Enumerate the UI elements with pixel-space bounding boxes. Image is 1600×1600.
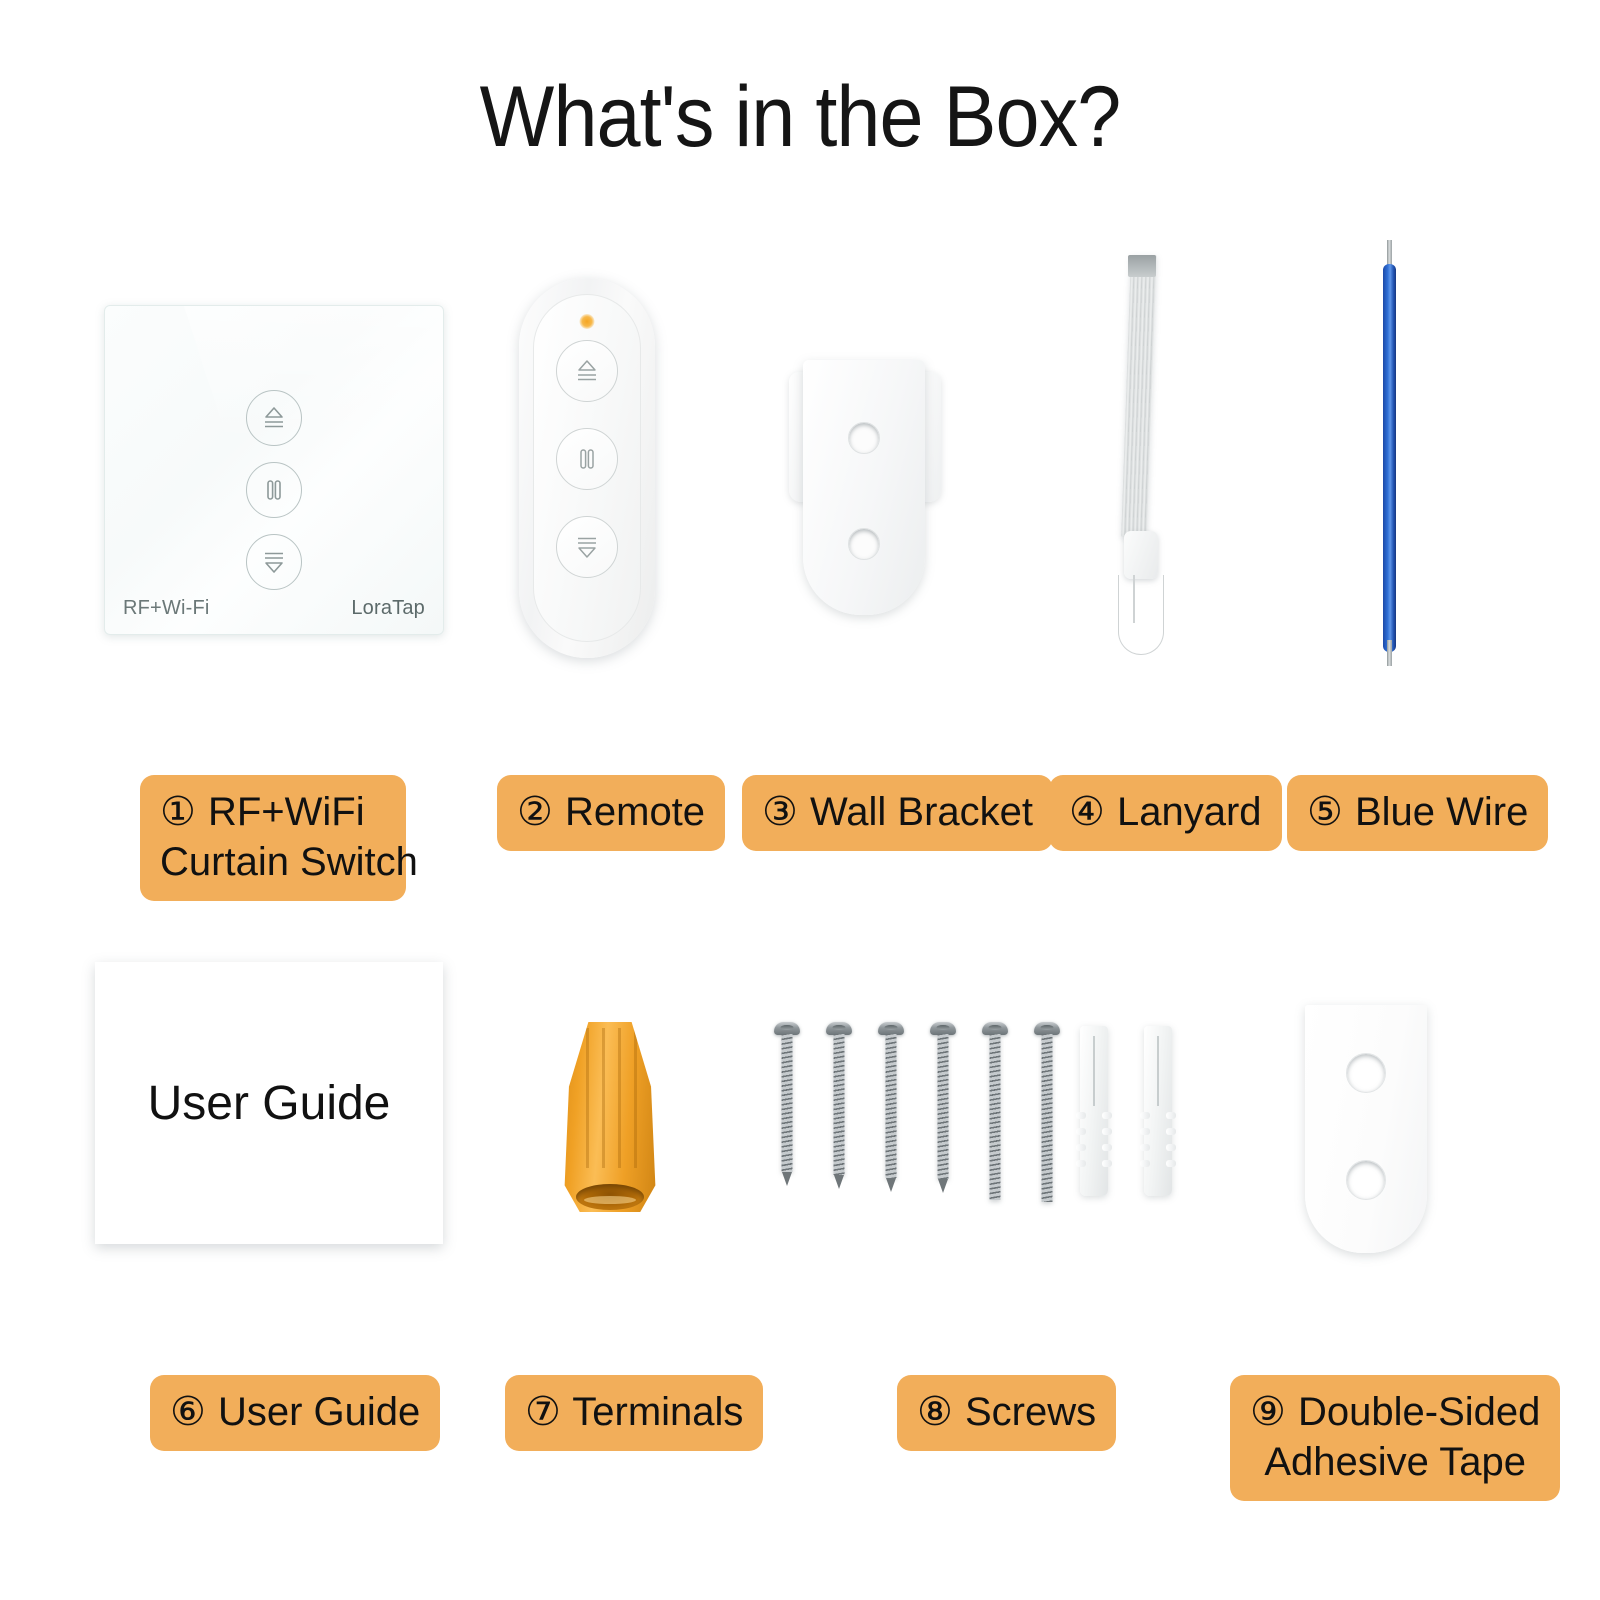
label-badge-screws: ⑧ Screws: [897, 1375, 1116, 1451]
badge-label: Lanyard: [1117, 790, 1262, 834]
badge-label: RF+WiFi: [208, 790, 365, 834]
lanyard-woven-strap: [1121, 255, 1157, 537]
anchor-notch: [1140, 1112, 1150, 1119]
badge-label: Double-Sided: [1298, 1390, 1540, 1434]
badge-label: Remote: [565, 790, 705, 834]
badge-number: ④: [1069, 790, 1106, 834]
bracket-screw-hole: [848, 528, 880, 560]
badge-label: Terminals: [572, 1390, 743, 1434]
wire-nut-rib: [634, 1028, 637, 1168]
switch-brand-label: LoraTap: [351, 597, 425, 620]
badge-number: ⑦: [525, 1390, 562, 1434]
screw-shaft: [886, 1034, 897, 1178]
screw-tip: [834, 1175, 844, 1189]
badge-number: ③: [762, 790, 799, 834]
remote-open-up-button[interactable]: [556, 340, 618, 402]
page-title: What's in the Box?: [64, 68, 1536, 167]
anchor-notch: [1166, 1144, 1176, 1151]
anchor-notch: [1140, 1144, 1150, 1151]
wire-nut-rib: [618, 1028, 621, 1168]
product-blue-wire: [1375, 240, 1405, 665]
screw-tip: [782, 1172, 792, 1186]
screw-shaft: [782, 1034, 793, 1172]
label-badge-remote: ② Remote: [497, 775, 725, 851]
product-lanyard: [1100, 255, 1190, 655]
label-badge-double-sided-adhesive-tape: ⑨ Double-Sided Adhesive Tape: [1230, 1375, 1560, 1501]
anchor-slit: [1157, 1036, 1159, 1106]
lanyard-clasp: [1124, 531, 1158, 579]
label-badge-blue-wire: ⑤ Blue Wire: [1287, 775, 1548, 851]
switch-protocol-label: RF+Wi-Fi: [123, 597, 210, 620]
whats-in-the-box-infographic: What's in the Box?: [0, 0, 1600, 1600]
screw-shaft: [1042, 1034, 1053, 1202]
label-badge-rf-wifi-curtain-switch: ① RF+WiFi Curtain Switch: [140, 775, 406, 901]
product-remote: [519, 278, 655, 658]
anchor-notch: [1102, 1112, 1112, 1119]
remote-button-column: [556, 340, 618, 578]
badge-label: Blue Wire: [1355, 790, 1528, 834]
anchor-notch: [1166, 1112, 1176, 1119]
anchor-notch: [1102, 1144, 1112, 1151]
lanyard-strap-end: [1128, 255, 1156, 277]
anchor-notch: [1166, 1128, 1176, 1135]
close-down-icon: [570, 530, 604, 564]
badge-label: User Guide: [218, 1390, 420, 1434]
badge-number: ⑧: [917, 1390, 954, 1434]
badge-number: ⑨: [1250, 1390, 1287, 1434]
screw-tip: [938, 1179, 948, 1193]
product-screws-and-anchors: [768, 1022, 1198, 1202]
label-badge-wall-bracket: ③ Wall Bracket: [742, 775, 1053, 851]
screw-shaft: [834, 1034, 845, 1175]
anchor-notch: [1076, 1128, 1086, 1135]
switch-button-column: [246, 390, 302, 590]
pause-icon: [257, 473, 291, 507]
product-terminal-wire-nut: [556, 1022, 664, 1212]
tape-hole: [1346, 1053, 1386, 1093]
wire-nut-opening-highlight: [584, 1196, 636, 1204]
bracket-screw-hole: [848, 422, 880, 454]
anchor-notch: [1166, 1160, 1176, 1167]
product-wall-bracket: [775, 360, 955, 615]
badge-number: ①: [160, 790, 197, 834]
badge-label: Screws: [965, 1390, 1096, 1434]
switch-open-up-button[interactable]: [246, 390, 302, 446]
anchor-slit: [1093, 1036, 1095, 1106]
label-badge-terminals: ⑦ Terminals: [505, 1375, 763, 1451]
label-badge-user-guide: ⑥ User Guide: [150, 1375, 440, 1451]
product-double-sided-adhesive-tape: [1305, 1005, 1427, 1253]
wall-anchor: [1080, 1026, 1108, 1196]
remote-close-down-button[interactable]: [556, 516, 618, 578]
product-rf-wifi-curtain-switch: RF+Wi-Fi LoraTap: [104, 305, 444, 635]
badge-label: Wall Bracket: [810, 790, 1033, 834]
lanyard-cord-stem: [1133, 575, 1135, 623]
wire-nut-rib: [586, 1028, 589, 1168]
badge-label-line2: Adhesive Tape: [1250, 1437, 1540, 1487]
remote-pause-button[interactable]: [556, 428, 618, 490]
pause-icon: [570, 442, 604, 476]
switch-close-down-button[interactable]: [246, 534, 302, 590]
wire-stripped-end: [1387, 240, 1392, 266]
remote-led-indicator-icon: [580, 314, 595, 329]
anchor-notch: [1140, 1160, 1150, 1167]
wire-blue-jacket: [1383, 264, 1396, 652]
screw-shaft: [990, 1034, 1001, 1200]
wall-anchor: [1144, 1026, 1172, 1196]
anchor-notch: [1076, 1144, 1086, 1151]
badge-label-line2: Curtain Switch: [160, 837, 386, 887]
anchor-notch: [1076, 1160, 1086, 1167]
anchor-notch: [1102, 1160, 1112, 1167]
open-up-icon: [257, 401, 291, 435]
badge-number: ②: [517, 790, 554, 834]
anchor-notch: [1140, 1128, 1150, 1135]
label-badge-lanyard: ④ Lanyard: [1049, 775, 1282, 851]
open-up-icon: [570, 354, 604, 388]
bracket-body: [803, 360, 925, 615]
badge-number: ⑤: [1307, 790, 1344, 834]
anchor-notch: [1076, 1112, 1086, 1119]
close-down-icon: [257, 545, 291, 579]
screw-tip: [886, 1178, 896, 1192]
user-guide-cover-text: User Guide: [148, 1076, 391, 1131]
switch-pause-button[interactable]: [246, 462, 302, 518]
tape-hole: [1346, 1160, 1386, 1200]
screw-shaft: [938, 1034, 949, 1179]
product-user-guide: User Guide: [95, 962, 443, 1244]
glass-gloss-highlight: [180, 305, 444, 598]
lanyard-cord-loop: [1118, 575, 1164, 655]
anchor-notch: [1102, 1128, 1112, 1135]
badge-number: ⑥: [170, 1390, 207, 1434]
wire-stripped-end: [1387, 640, 1392, 666]
wire-nut-rib: [602, 1028, 605, 1168]
